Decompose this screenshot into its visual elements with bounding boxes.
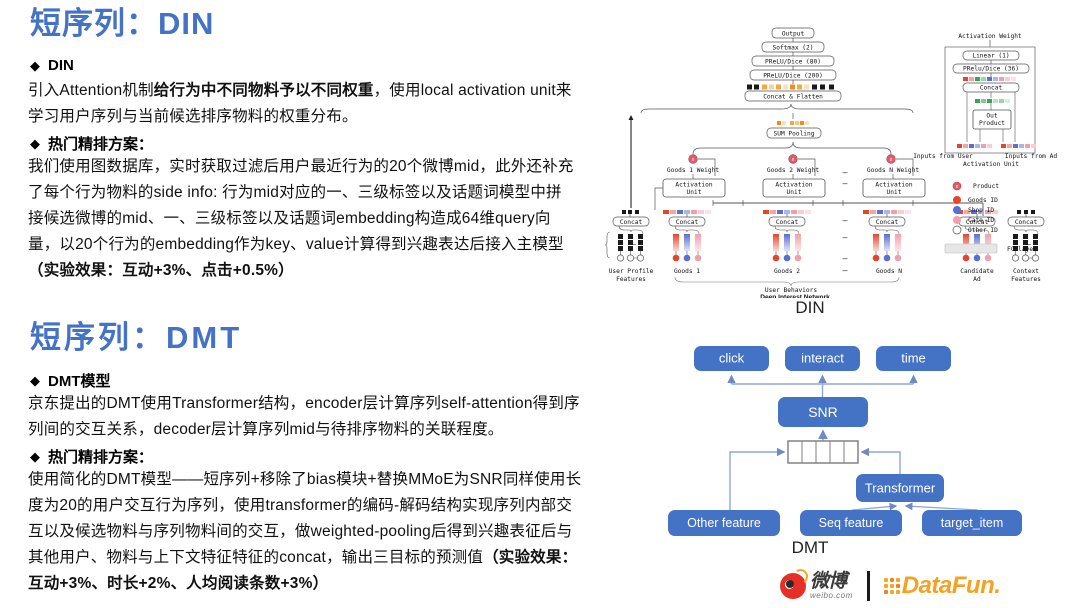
svg-text:—: — [843, 168, 848, 177]
section-title-din: 短序列：DIN [30, 8, 214, 39]
paragraph-dmt-intro: 京东提出的DMT使用Transformer结构，encoder层计算序列self… [28, 391, 580, 443]
din-goods-label-1: Goods 1 [674, 268, 700, 275]
din-context-l2: Features [1011, 276, 1041, 283]
din-legend-other-id: Other ID [968, 227, 998, 234]
datafun-logo: DataFun. [884, 572, 1001, 600]
din-legend-cate-id: Cate ID [968, 217, 994, 224]
din-weight-col-1: x Goods 1 Weight Activation Unit [655, 154, 725, 210]
bullet-head-label: DMT模型 [48, 370, 111, 391]
svg-text:Unit: Unit [787, 189, 802, 196]
svg-text:Activation: Activation [675, 182, 713, 189]
din-legend-fc-layer: FC layer [1007, 246, 1037, 253]
dmt-node-seq-feature-label: Seq feature [819, 516, 884, 530]
footer-divider [867, 571, 870, 601]
din-weight-col-n: x Goods N Weight Activation Unit [863, 154, 925, 197]
bullet-head-label: DIN [48, 57, 74, 74]
din-embedding-layer-label: Embedding Layer [605, 232, 610, 258]
svg-text:x: x [955, 184, 958, 190]
bullet-head-dmt-plan: ◆ 热门精排方案： [30, 446, 153, 467]
weibo-cn-label: 微博 [810, 572, 853, 591]
din-sum-pooling: SUM Pooling [774, 130, 815, 137]
din-goodsn-weight: Goods N Weight [867, 167, 919, 174]
din-candidate-l2: Ad [973, 276, 981, 283]
bullet-head-label: 热门精排方案： [48, 446, 153, 467]
dmt-edges-snr-outputs [732, 376, 914, 397]
din-goods-1-block: Concat Goods 1 [663, 210, 711, 275]
din-user-profile-l2: Features [616, 276, 646, 283]
paragraph-din-plan: 我们使用图数据库，实时获取过滤后用户最近行为的20个微博mid，此外还补充了每个… [28, 154, 576, 284]
weibo-en-label: weibo.com [810, 592, 853, 600]
din-goods-2-block: Concat Goods 2 [763, 210, 811, 275]
svg-text:Concat: Concat [876, 219, 899, 226]
dmt-figure-caption: DMT [660, 538, 960, 558]
diamond-bullet-icon: ◆ [30, 137, 40, 150]
din-stack-output: Output [782, 30, 805, 37]
diamond-bullet-icon: ◆ [30, 59, 40, 72]
din-weight-col-2: x Goods 2 Weight Activation Unit [763, 154, 825, 197]
din-weight-columns: x Goods 1 Weight Activation Unit [655, 154, 983, 216]
datafun-label: DataFun. [902, 572, 1001, 600]
din-stack-prelu80: PReLU/Dice (80) [765, 58, 821, 65]
section-title-dmt: 短序列：DMT [30, 322, 242, 353]
din-sum-pooling-group: SUM Pooling [767, 113, 821, 138]
dmt-architecture-diagram: click interact time SNR [660, 340, 1060, 545]
paragraph-din-intro: 引入Attention机制给行为中不同物料予以不同权重，使用local acti… [28, 78, 576, 130]
svg-text:—: — [843, 266, 848, 275]
din-user-profile-l1: User Profile [609, 268, 654, 275]
din-stack-prelu200: PReLU/Dice (200) [763, 72, 823, 79]
svg-text:—: — [632, 240, 637, 248]
dmt-node-target-item-label: target_item [941, 516, 1004, 530]
product-x-icon: x [791, 157, 794, 163]
din-concat-vector [747, 85, 834, 90]
dmt-node-time-label: time [901, 351, 926, 366]
din-goods-label-n: Goods N [876, 268, 902, 275]
dmt-node-click-label: click [719, 351, 745, 366]
din-figure-caption: DIN [600, 298, 1020, 318]
din-inputs-ad: Inputs from Ad [1005, 153, 1057, 160]
svg-text:Concat: Concat [776, 219, 799, 226]
dmt-output-row: click interact time [694, 346, 951, 371]
din-inputs-user: Inputs from User [913, 153, 973, 160]
bullet-head-din-plan: ◆ 热门精排方案： [30, 133, 153, 154]
din-context-l1: Context [1013, 268, 1039, 275]
dmt-edges-into-transformer [852, 506, 978, 510]
bullet-head-dmt: ◆ DMT模型 [30, 370, 111, 391]
din-goods2-weight: Goods 2 Weight [767, 167, 819, 174]
svg-text:—: — [843, 179, 848, 188]
din-legend-goods-id: Goods ID [968, 197, 998, 204]
din-goods-label-2: Goods 2 [774, 268, 800, 275]
dmt-node-snr-label: SNR [808, 404, 838, 420]
dmt-node-other-feature-label: Other feature [687, 516, 761, 530]
din-user-behaviors-label: User Behaviors [765, 287, 817, 294]
svg-text:Unit: Unit [887, 189, 902, 196]
svg-text:—: — [843, 233, 848, 242]
svg-text:Concat: Concat [676, 219, 699, 226]
slide: 短序列：DIN ◆ DIN 引入Attention机制给行为中不同物料予以不同权… [0, 0, 1080, 608]
diamond-bullet-icon: ◆ [30, 450, 40, 463]
datafun-dots-icon [884, 578, 900, 594]
svg-text:Concat: Concat [1015, 219, 1038, 226]
din-out-product-l2: Product [979, 120, 1005, 127]
footer-logos: 微博 weibo.com DataFun. [780, 566, 1080, 606]
din-goods1-weight: Goods 1 Weight [667, 167, 719, 174]
svg-text:Concat: Concat [620, 219, 643, 226]
din-concat-flatten: Concat & Flatten [763, 93, 823, 100]
din-stack-softmax: Softmax (2) [773, 44, 814, 51]
din-activation-weight-panel: Activation Weight Linear (1) PRelu/Dice … [913, 33, 1057, 168]
din-legend-shop-id: Shop ID [968, 207, 994, 214]
weibo-logo: 微博 weibo.com [780, 572, 853, 600]
din-activation-title: Activation Weight [958, 33, 1022, 40]
right-figure-column: Output Softmax (2) PReLU/Dice (80) PReLU… [600, 0, 1080, 608]
din-act-concat: Concat [980, 85, 1003, 92]
din-top-stack: Output Softmax (2) PReLU/Dice (80) PReLU… [750, 28, 836, 84]
diamond-bullet-icon: ◆ [30, 374, 40, 387]
din-architecture-diagram: Output Softmax (2) PReLU/Dice (80) PReLU… [605, 18, 1080, 298]
paragraph-dmt-plan: 使用简化的DMT模型——短序列+移除了bias模块+替换MMoE为SNR同样使用… [28, 467, 586, 597]
svg-text:—: — [843, 254, 848, 263]
svg-text:Unit: Unit [687, 189, 702, 196]
weibo-mark-icon [780, 573, 806, 599]
product-x-icon: x [889, 157, 892, 163]
dmt-node-transformer-label: Transformer [865, 481, 936, 496]
bullet-head-din: ◆ DIN [30, 57, 74, 74]
product-x-icon: x [691, 157, 694, 163]
din-act-linear: Linear (1) [972, 53, 1009, 60]
dmt-concat-cells [788, 441, 858, 463]
svg-text:Activation: Activation [775, 182, 813, 189]
bullet-head-label: 热门精排方案： [48, 133, 153, 154]
din-legend-product: Product [973, 183, 999, 190]
left-text-column: 短序列：DIN ◆ DIN 引入Attention机制给行为中不同物料予以不同权… [0, 0, 600, 608]
din-candidate-l1: Candidate [960, 268, 994, 275]
svg-text:Activation: Activation [875, 182, 913, 189]
din-act-prelu: PRelu/Dice (36) [963, 66, 1019, 73]
svg-text:—: — [843, 216, 848, 225]
din-activation-unit-caption: Activation Unit [963, 161, 1019, 168]
dmt-node-interact-label: interact [801, 351, 844, 366]
din-goods-n-block: Concat Goods N [863, 210, 911, 275]
dmt-input-row: Other feature Seq feature target_item [668, 510, 1022, 536]
din-user-profile-block: Concat — [609, 210, 654, 283]
din-out-product-l1: Out [986, 113, 997, 120]
